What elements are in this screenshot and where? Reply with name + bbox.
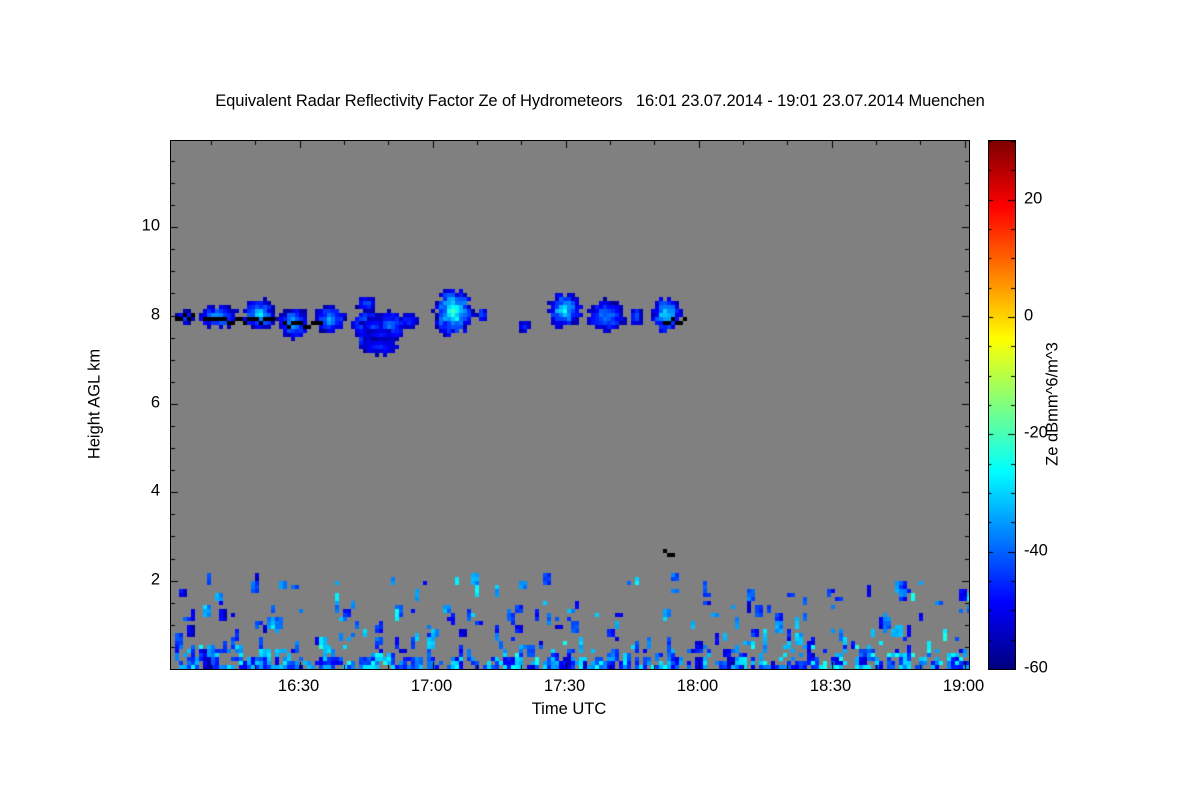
colorbar-gradient: [989, 141, 1015, 669]
radar-figure: Equivalent Radar Reflectivity Factor Ze …: [0, 0, 1200, 800]
colorbar-tick-label: -60: [1024, 659, 1048, 678]
plot-axes[interactable]: [170, 140, 970, 670]
y-tick-label: 8: [110, 305, 160, 324]
page-title: Equivalent Radar Reflectivity Factor Ze …: [0, 92, 1200, 111]
y-axis-title: Height AGL km: [86, 349, 105, 459]
reflectivity-heatmap[interactable]: [171, 141, 969, 669]
x-tick-label: 18:30: [810, 677, 851, 696]
x-tick-label: 18:00: [677, 677, 718, 696]
x-axis-title: Time UTC: [532, 700, 607, 719]
y-tick-label: 2: [110, 570, 160, 589]
x-tick-label: 17:30: [544, 677, 585, 696]
x-tick-label: 17:00: [411, 677, 452, 696]
y-tick-label: 10: [110, 217, 160, 236]
x-tick-label: 16:30: [278, 677, 319, 696]
y-tick-label: 6: [110, 393, 160, 412]
colorbar-tick-label: 0: [1024, 307, 1033, 326]
x-tick-label: 19:00: [943, 677, 984, 696]
colorbar[interactable]: [988, 140, 1016, 670]
colorbar-tick-label: -40: [1024, 541, 1048, 560]
colorbar-tick-label: 20: [1024, 189, 1042, 208]
y-tick-label: 4: [110, 482, 160, 501]
colorbar-title: Ze dBmm^6/m^3: [1044, 342, 1063, 466]
